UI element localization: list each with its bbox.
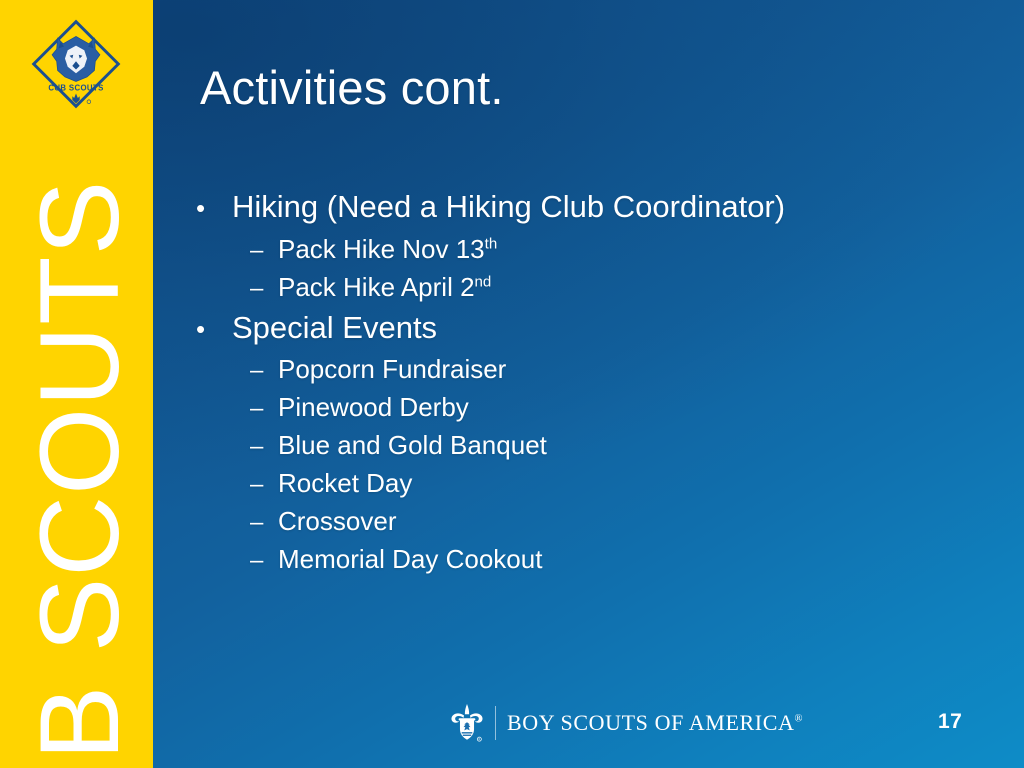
bsa-wordmark: BOY SCOUTS OF AMERICA® bbox=[507, 710, 803, 736]
bullet-marker-icon: • bbox=[196, 316, 232, 342]
sub-bullet-item-pinewood-derby: – Pinewood Derby bbox=[250, 389, 986, 426]
bsa-wordmark-text: BOY SCOUTS OF AMERICA bbox=[507, 710, 794, 735]
sub-bullet-text: Memorial Day Cookout bbox=[278, 541, 986, 578]
bullet-item-special-events: • Special Events bbox=[196, 307, 986, 350]
sub-bullet-label: Pack Hike April 2 bbox=[278, 272, 475, 302]
ordinal-suffix: nd bbox=[475, 273, 492, 290]
sidebar: CUB SCOUTS CUB SCOUTS bbox=[0, 0, 153, 768]
svg-text:R: R bbox=[478, 738, 480, 741]
dash-marker-icon: – bbox=[250, 511, 278, 535]
sub-bullet-text: Blue and Gold Banquet bbox=[278, 427, 986, 464]
footer-divider bbox=[495, 706, 496, 740]
fleur-de-lis-icon: R bbox=[448, 702, 486, 744]
sub-bullet-text: Pinewood Derby bbox=[278, 389, 986, 426]
dash-marker-icon: – bbox=[250, 435, 278, 459]
bullet-text: Hiking (Need a Hiking Club Coordinator) bbox=[232, 186, 986, 229]
sub-bullet-text: Crossover bbox=[278, 503, 986, 540]
sub-bullet-item-crossover: – Crossover bbox=[250, 503, 986, 540]
ordinal-suffix: th bbox=[485, 235, 498, 252]
dash-marker-icon: – bbox=[250, 549, 278, 573]
dash-marker-icon: – bbox=[250, 239, 278, 263]
sub-bullet-item-pack-hike-nov: – Pack Hike Nov 13th bbox=[250, 231, 986, 268]
sub-bullet-item-rocket-day: – Rocket Day bbox=[250, 465, 986, 502]
dash-marker-icon: – bbox=[250, 359, 278, 383]
slide-body: • Hiking (Need a Hiking Club Coordinator… bbox=[196, 186, 986, 579]
dash-marker-icon: – bbox=[250, 473, 278, 497]
registered-trademark-symbol: ® bbox=[794, 714, 803, 725]
sub-bullet-item-memorial-day-cookout: – Memorial Day Cookout bbox=[250, 541, 986, 578]
sub-bullet-item-popcorn-fundraiser: – Popcorn Fundraiser bbox=[250, 351, 986, 388]
sub-bullet-item-blue-and-gold-banquet: – Blue and Gold Banquet bbox=[250, 427, 986, 464]
page-title: Activities cont. bbox=[200, 62, 504, 114]
bullet-text: Special Events bbox=[232, 307, 986, 350]
bullet-marker-icon: • bbox=[196, 195, 232, 221]
presentation-slide: CUB SCOUTS CUB SCOUTS Activities cont. •… bbox=[0, 0, 1024, 768]
page-number: 17 bbox=[938, 710, 962, 734]
sub-bullet-text: Popcorn Fundraiser bbox=[278, 351, 986, 388]
sub-bullet-text: Pack Hike Nov 13th bbox=[278, 231, 986, 268]
bullet-item-hiking: • Hiking (Need a Hiking Club Coordinator… bbox=[196, 186, 986, 229]
sub-bullet-item-pack-hike-april: – Pack Hike April 2nd bbox=[250, 269, 986, 306]
bsa-footer-lockup: R BOY SCOUTS OF AMERICA® bbox=[448, 700, 803, 746]
dash-marker-icon: – bbox=[250, 397, 278, 421]
sub-bullet-label: Pack Hike Nov 13 bbox=[278, 234, 485, 264]
sidebar-wordmark-container: CUB SCOUTS bbox=[0, 0, 153, 768]
sub-bullet-text: Pack Hike April 2nd bbox=[278, 269, 986, 306]
sidebar-wordmark: CUB SCOUTS bbox=[24, 44, 136, 768]
dash-marker-icon: – bbox=[250, 277, 278, 301]
sub-bullet-text: Rocket Day bbox=[278, 465, 986, 502]
